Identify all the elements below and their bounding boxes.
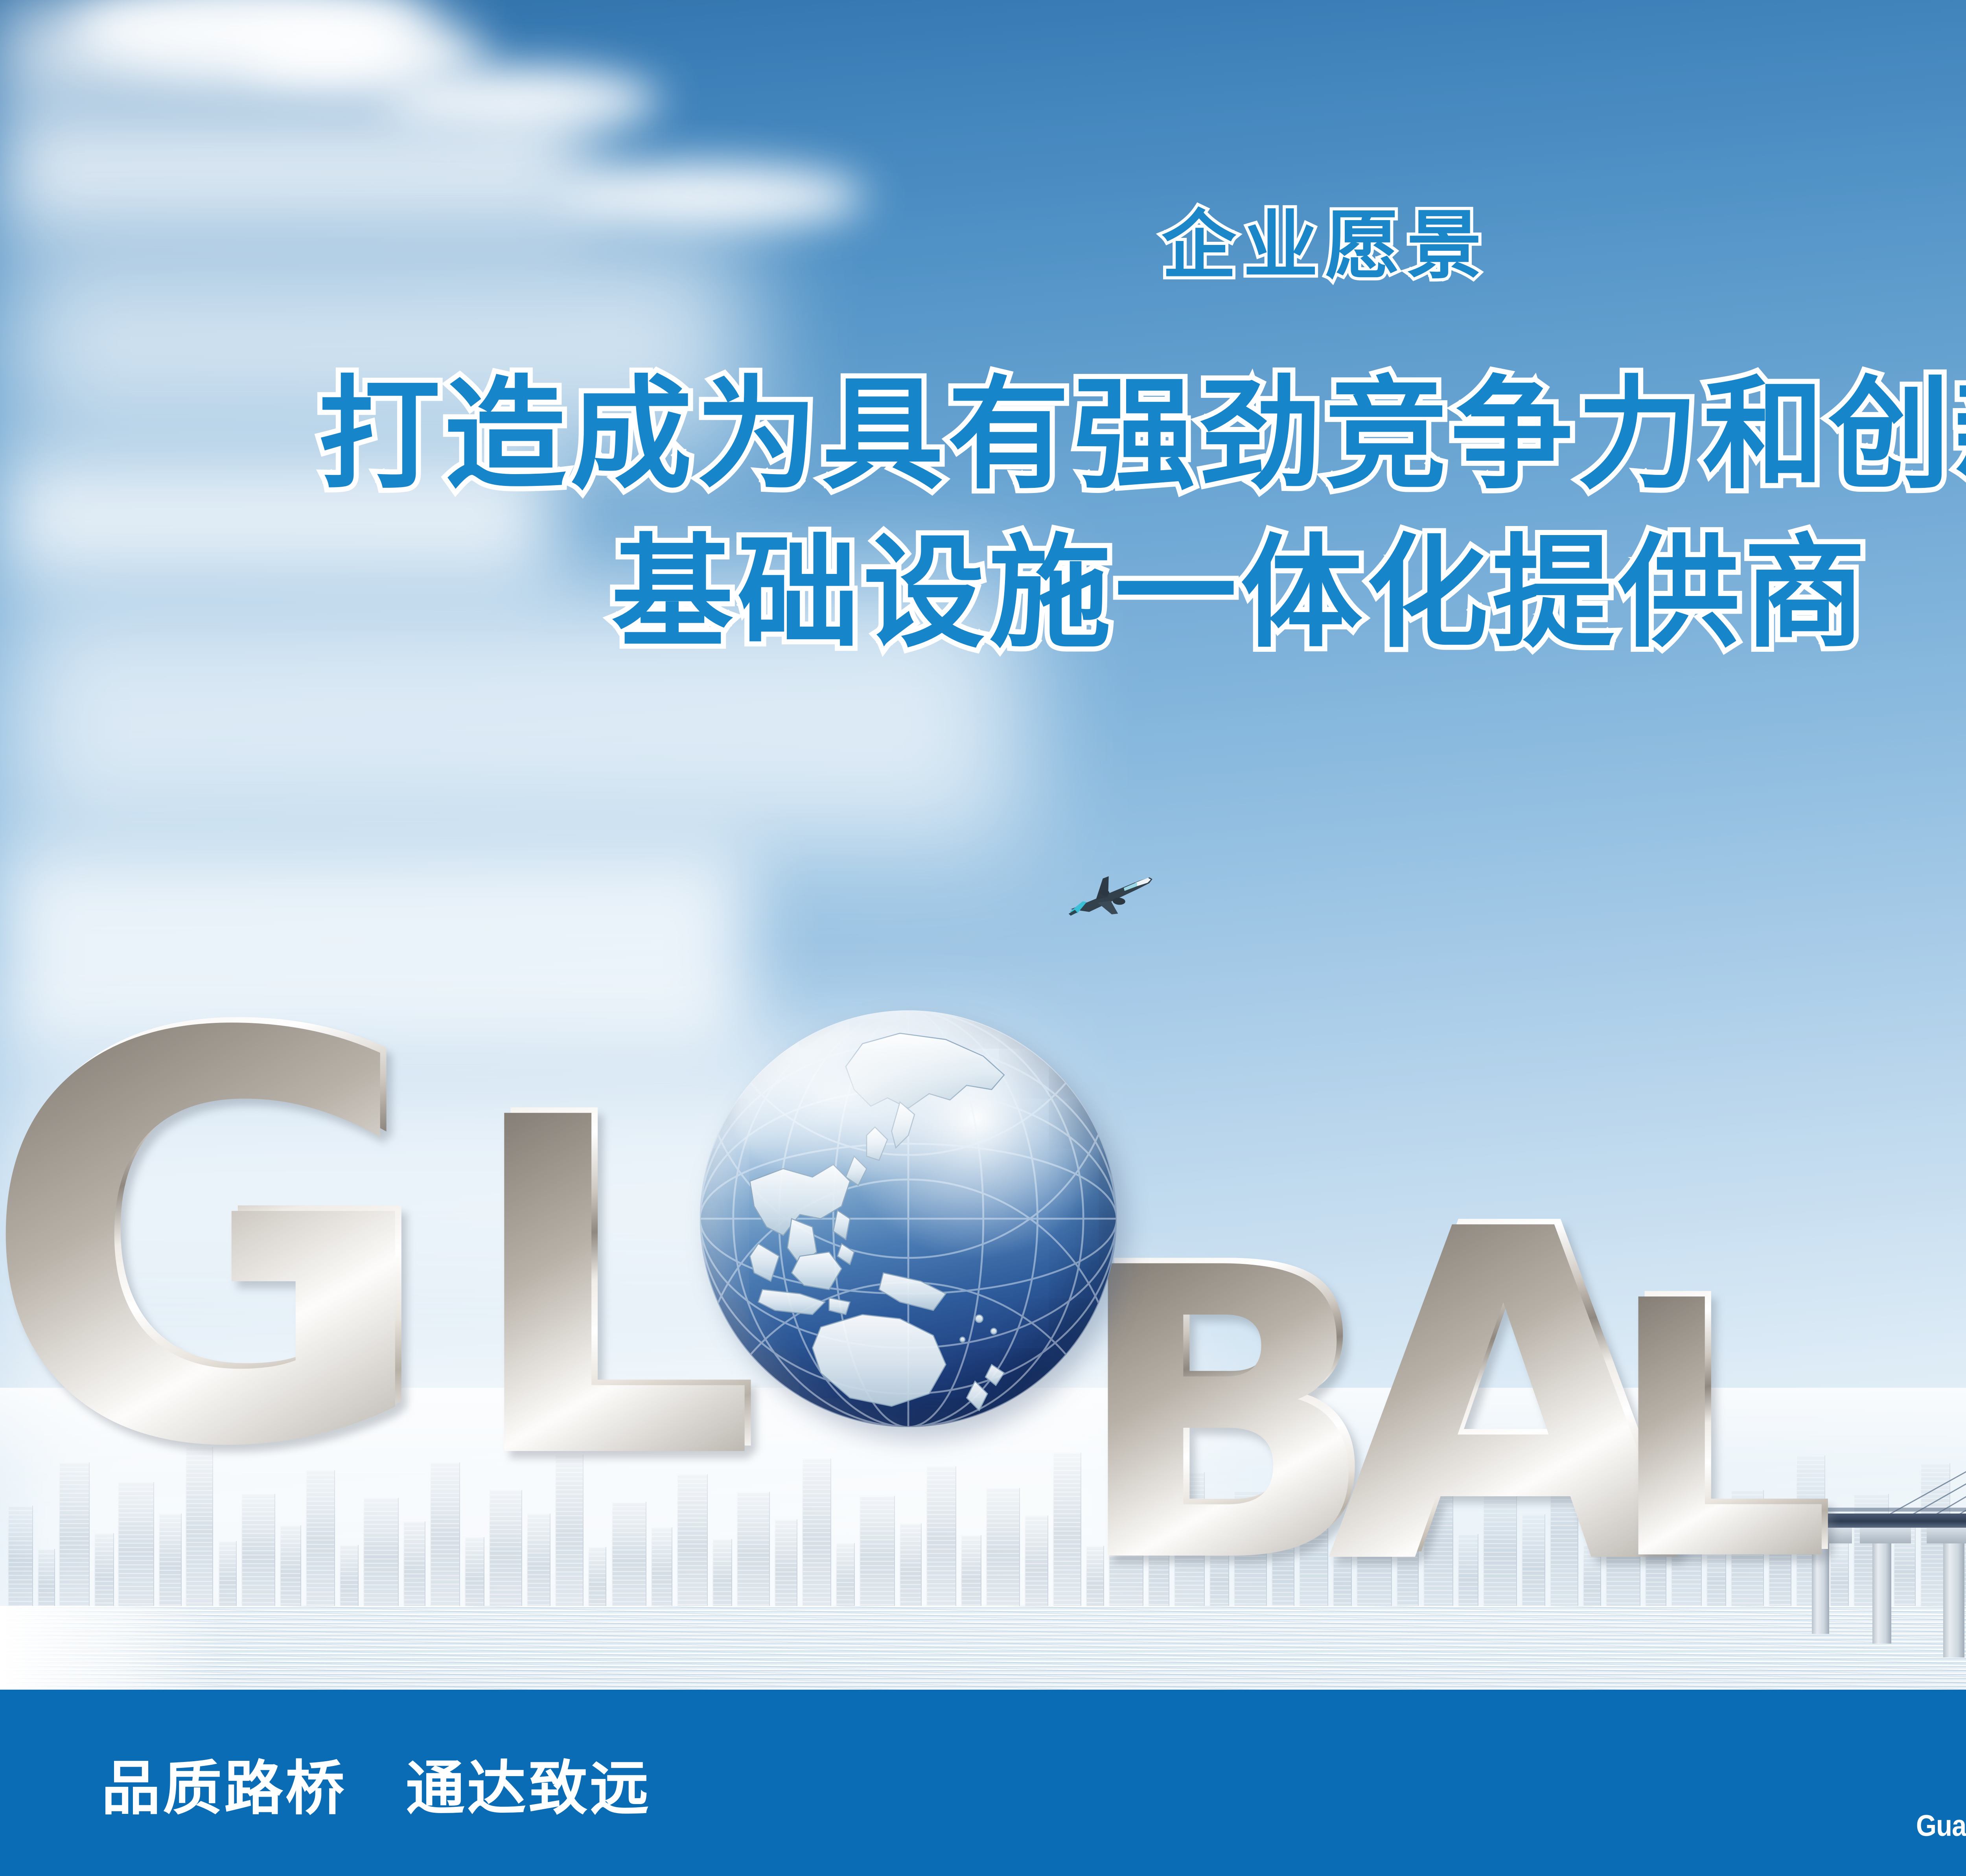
slogan-line-1: 打造成为具有强劲竞争力和创新力的 bbox=[0, 356, 1966, 514]
airplane-icon bbox=[1048, 855, 1174, 934]
footer-slogan: 品质路桥通达致远 bbox=[101, 1741, 651, 1826]
letter-g: GG bbox=[0, 959, 443, 1517]
slogan-line-2: 基础设施一体化提供商 bbox=[0, 514, 1966, 673]
corporate-vision-poster: GG LL BB AA LL bbox=[0, 0, 1966, 1876]
bridge-cables bbox=[1879, 1407, 1966, 1520]
airplane-svg bbox=[1048, 855, 1174, 934]
company-name-en: Guangxi Road and Bridge Engineering Grou… bbox=[1916, 1809, 1966, 1843]
globe-highlight bbox=[733, 1027, 992, 1194]
footer-slogan-part1: 品质路桥 bbox=[101, 1755, 347, 1823]
page-title: 企业愿景 bbox=[0, 185, 1966, 293]
globe-letter-o bbox=[700, 1010, 1117, 1427]
bridge-pier bbox=[1943, 1543, 1964, 1657]
footer-bar: 品质路桥通达致远 广西路桥工程集团有限公司 Guangxi Road and B… bbox=[0, 1690, 1966, 1876]
bridge-pier-cap bbox=[1927, 1528, 1966, 1543]
vision-label: 企业愿景 bbox=[1162, 202, 1489, 289]
footer-slogan-part2: 通达致远 bbox=[406, 1755, 651, 1823]
vision-slogan: 打造成为具有强劲竞争力和创新力的 基础设施一体化提供商 bbox=[0, 356, 1966, 673]
letter-l2: LL bbox=[1612, 1250, 1838, 1604]
company-name-cn: 广西路桥工程集团有限公司 bbox=[1826, 1727, 1966, 1797]
company-identity: 广西路桥工程集团有限公司 Guangxi Road and Bridge Eng… bbox=[1826, 1727, 1966, 1843]
